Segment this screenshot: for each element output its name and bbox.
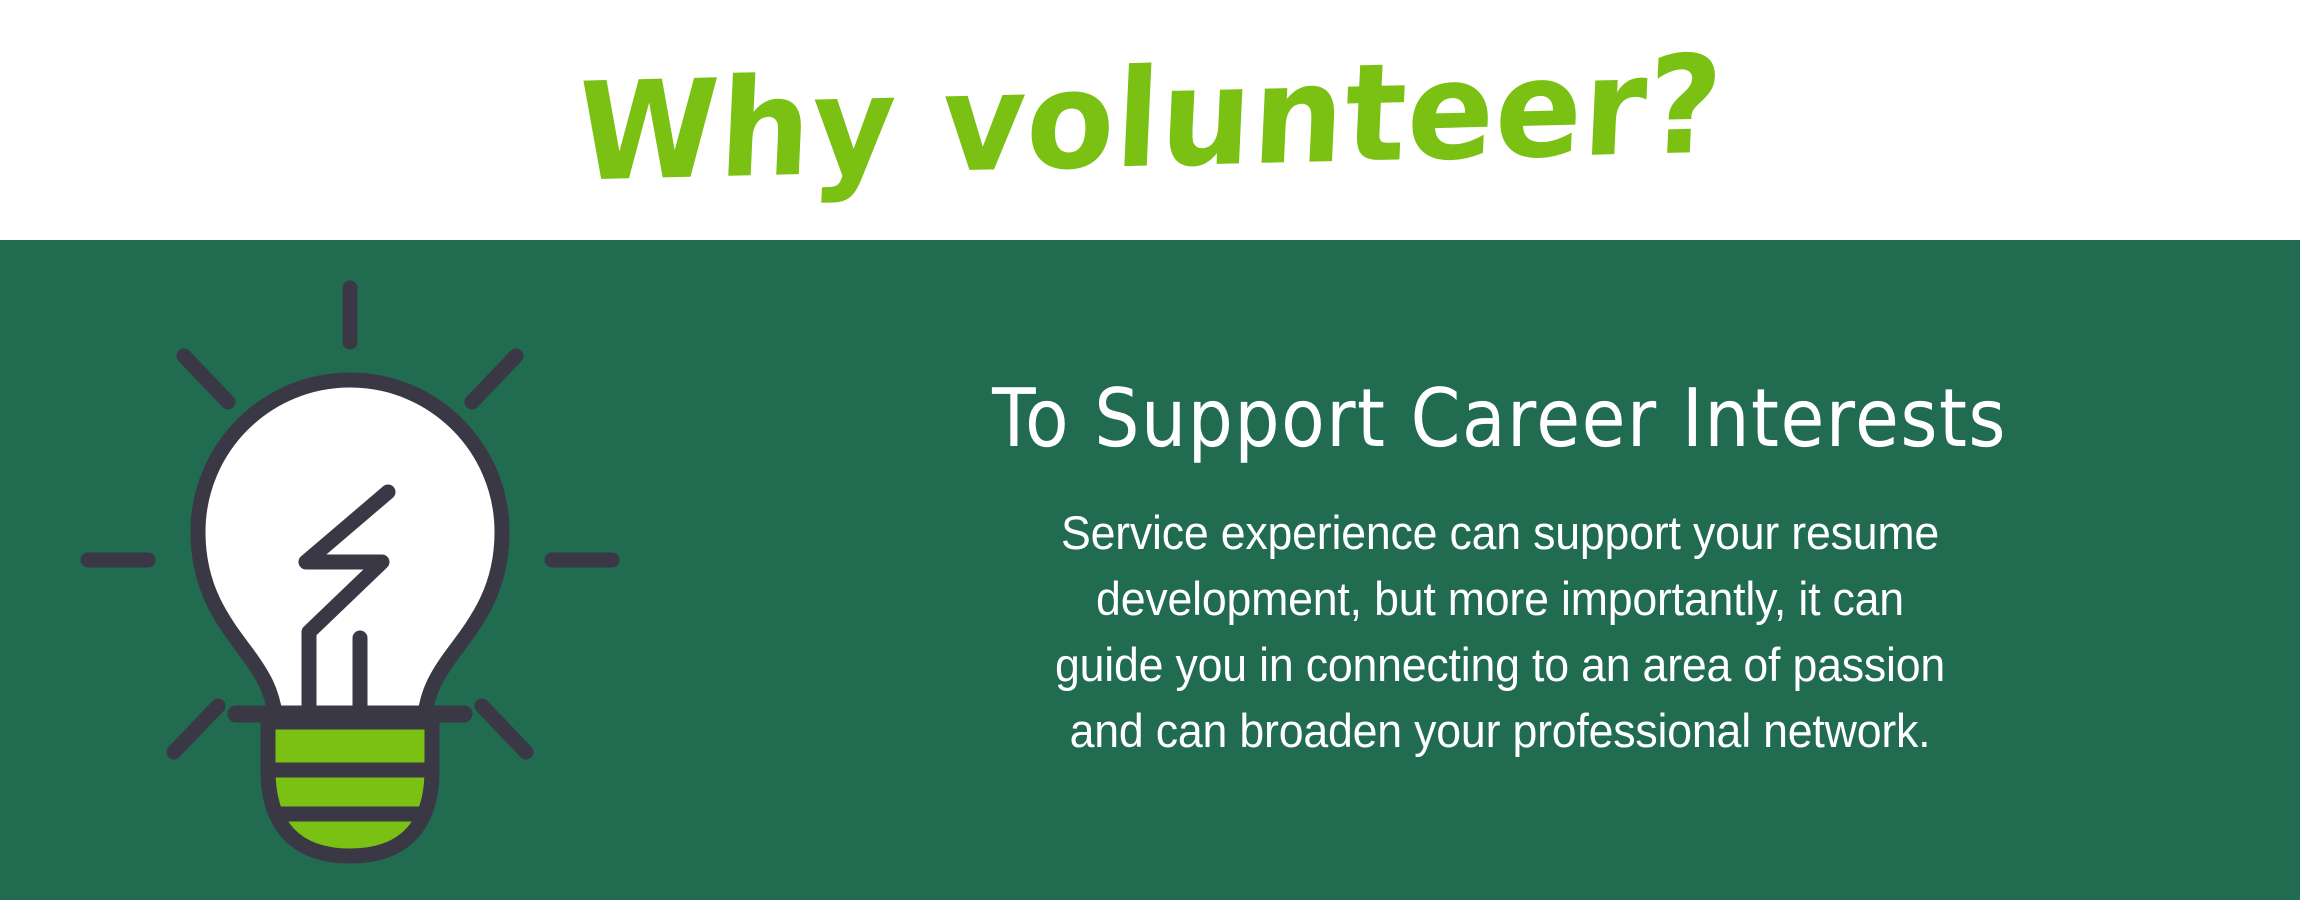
panel-subheading: To Support Career Interests <box>993 378 2008 459</box>
illustration-column <box>0 240 700 900</box>
bulb-base <box>236 714 464 864</box>
body-line: and can broaden your professional networ… <box>959 698 2042 764</box>
panel-body-text: Service experience can support your resu… <box>959 500 2042 764</box>
bulb-glass <box>198 380 502 714</box>
page-title: Why volunteer? <box>574 38 1726 202</box>
text-column: To Support Career Interests Service expe… <box>700 240 2300 900</box>
body-line: Service experience can support your resu… <box>959 500 2042 566</box>
content-panel: To Support Career Interests Service expe… <box>0 240 2300 900</box>
why-volunteer-banner: Why volunteer? <box>0 0 2300 900</box>
ray-bottom-right-icon <box>482 706 526 752</box>
ray-bottom-left-icon <box>174 706 218 752</box>
ray-top-right-icon <box>472 356 516 402</box>
body-line: guide you in connecting to an area of pa… <box>959 632 2042 698</box>
lightbulb-icon <box>70 270 630 870</box>
ray-top-left-icon <box>184 356 228 402</box>
body-line: development, but more importantly, it ca… <box>959 566 2042 632</box>
headline-band: Why volunteer? <box>0 0 2300 240</box>
